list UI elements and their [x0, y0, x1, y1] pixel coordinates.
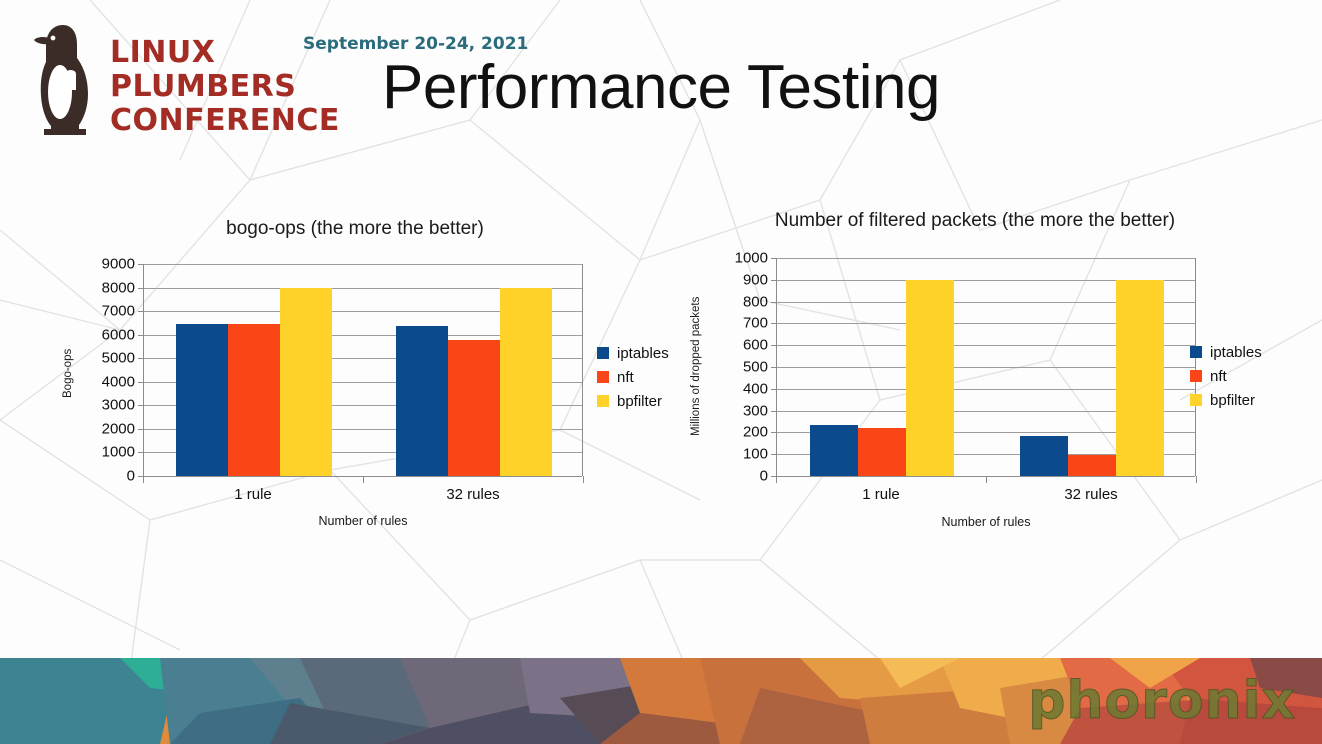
legend-swatch-icon	[597, 347, 609, 359]
x-axis-title: Number of rules	[143, 514, 583, 528]
x-axis-tickmark	[986, 476, 987, 483]
legend-item-bpfilter: bpfilter	[597, 393, 669, 409]
x-axis-category-label: 1 rule	[143, 486, 363, 503]
bar-bpfilter-1-rule	[280, 288, 332, 476]
bar-iptables-32-rules	[1020, 436, 1068, 476]
bar-nft-1-rule	[858, 428, 906, 476]
bar-iptables-32-rules	[396, 326, 448, 476]
legend-label: nft	[1210, 368, 1227, 385]
bar-iptables-1-rule	[176, 324, 228, 476]
slide-canvas: LINUX PLUMBERS CONFERENCE September 20-2…	[0, 0, 1322, 744]
plot-frame	[143, 264, 583, 476]
legend-label: nft	[617, 369, 634, 386]
y-axis-tick-label: 900	[690, 271, 768, 288]
y-axis-tick-label: 800	[690, 293, 768, 310]
y-axis-tick-label: 600	[690, 337, 768, 354]
bar-bpfilter-32-rules	[500, 288, 552, 476]
legend-swatch-icon	[597, 371, 609, 383]
chart-plot-area: Bogo-ops01000200030004000500060007000800…	[60, 218, 700, 538]
y-axis-tick-label: 3000	[60, 397, 135, 414]
bar-nft-1-rule	[228, 324, 280, 476]
y-axis-tick-label: 5000	[60, 350, 135, 367]
x-axis-category-label: 32 rules	[363, 486, 583, 503]
legend-swatch-icon	[1190, 394, 1202, 406]
legend-item-nft: nft	[1190, 368, 1262, 384]
footer-band: phoronix	[0, 658, 1322, 744]
legend-label: bpfilter	[1210, 392, 1255, 409]
chart-plot-area: Millions of dropped packets0100200300400…	[690, 210, 1290, 540]
y-axis-tick-label: 500	[690, 359, 768, 376]
legend-swatch-icon	[1190, 346, 1202, 358]
y-axis-tick-label: 200	[690, 424, 768, 441]
x-axis-tickmark	[583, 476, 584, 483]
x-axis-category-label: 1 rule	[776, 486, 986, 503]
legend-label: iptables	[1210, 344, 1262, 361]
bar-nft-32-rules	[448, 340, 500, 476]
y-axis-tick-label: 1000	[690, 250, 768, 267]
legend-item-nft: nft	[597, 369, 669, 385]
legend-swatch-icon	[597, 395, 609, 407]
chart-filtered-packets: Number of filtered packets (the more the…	[690, 210, 1290, 540]
legend-item-iptables: iptables	[1190, 344, 1262, 360]
conference-date: September 20-24, 2021	[303, 34, 528, 54]
gridline	[144, 264, 582, 265]
bar-iptables-1-rule	[810, 425, 858, 476]
legend-swatch-icon	[1190, 370, 1202, 382]
x-axis-title: Number of rules	[776, 515, 1196, 529]
chart-legend: iptablesnftbpfilter	[597, 345, 669, 417]
phoronix-watermark: phoronix	[1028, 671, 1296, 731]
legend-item-bpfilter: bpfilter	[1190, 392, 1262, 408]
chart-bogo-ops: bogo-ops (the more the better) Bogo-ops0…	[60, 218, 700, 538]
chart-legend: iptablesnftbpfilter	[1190, 344, 1262, 416]
y-axis-tick-label: 1000	[60, 444, 135, 461]
page-title: Performance Testing	[0, 52, 1322, 123]
x-axis-tickmark	[363, 476, 364, 483]
y-axis-tick-label: 8000	[60, 279, 135, 296]
y-axis-tick-label: 0	[690, 468, 768, 485]
y-axis-tick-label: 2000	[60, 420, 135, 437]
x-axis-tickmark	[143, 476, 144, 483]
x-axis-tickmark	[1196, 476, 1197, 483]
legend-label: bpfilter	[617, 393, 662, 410]
bar-nft-32-rules	[1068, 455, 1116, 476]
y-axis-tick-label: 700	[690, 315, 768, 332]
x-axis-category-label: 32 rules	[986, 486, 1196, 503]
plot-frame	[776, 258, 1196, 476]
legend-label: iptables	[617, 345, 669, 362]
bar-bpfilter-1-rule	[906, 280, 954, 476]
y-axis-tick-label: 100	[690, 446, 768, 463]
gridline	[777, 258, 1195, 259]
y-axis-tick-label: 4000	[60, 373, 135, 390]
y-axis-tick-label: 7000	[60, 303, 135, 320]
x-axis-tickmark	[776, 476, 777, 483]
y-axis-tick-label: 0	[60, 468, 135, 485]
y-axis-tick-label: 300	[690, 402, 768, 419]
y-axis-tick-label: 9000	[60, 256, 135, 273]
bar-bpfilter-32-rules	[1116, 280, 1164, 476]
y-axis-tick-label: 6000	[60, 326, 135, 343]
y-axis-tick-label: 400	[690, 380, 768, 397]
legend-item-iptables: iptables	[597, 345, 669, 361]
